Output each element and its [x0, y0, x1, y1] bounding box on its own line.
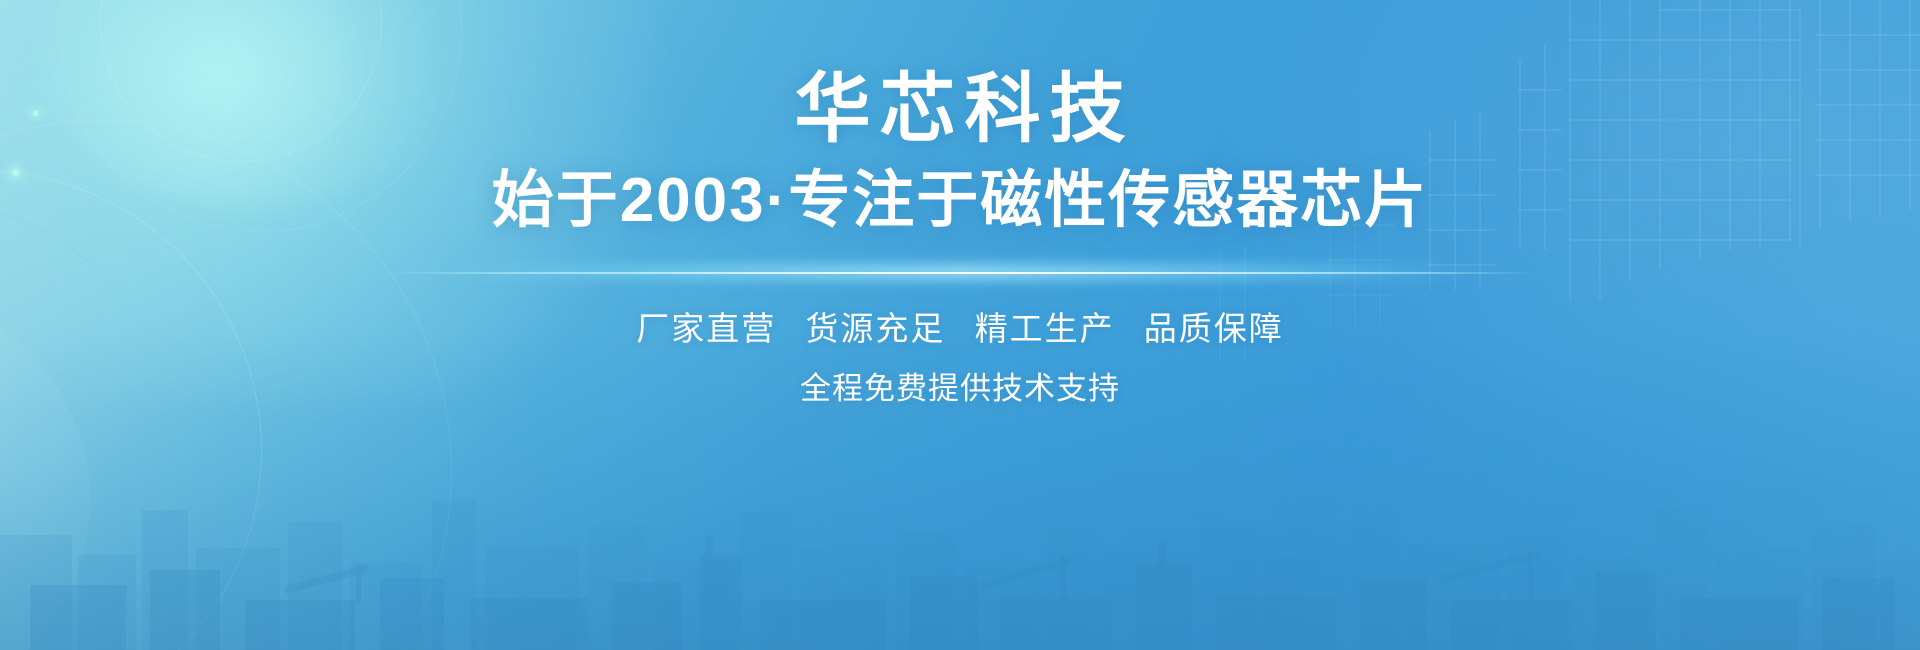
banner-content: 华芯科技 始于2003·专注于磁性传感器芯片 厂家直营 货源充足 精工生产 品质… — [0, 0, 1920, 650]
feature-item: 精工生产 — [975, 310, 1115, 347]
company-title: 华芯科技 — [786, 72, 1135, 148]
glow-divider-line — [385, 272, 1535, 274]
feature-list: 厂家直营 货源充足 精工生产 品质保障 — [627, 312, 1293, 345]
hero-banner: 华芯科技 始于2003·专注于磁性传感器芯片 厂家直营 货源充足 精工生产 品质… — [0, 0, 1920, 650]
feature-item: 厂家直营 — [636, 310, 776, 347]
feature-item: 品质保障 — [1144, 310, 1284, 347]
feature-item: 货源充足 — [805, 310, 945, 347]
glow-divider — [385, 266, 1535, 280]
banner-subtitle: 始于2003·专注于磁性传感器芯片 — [492, 170, 1429, 232]
support-note: 全程免费提供技术支持 — [800, 373, 1120, 404]
